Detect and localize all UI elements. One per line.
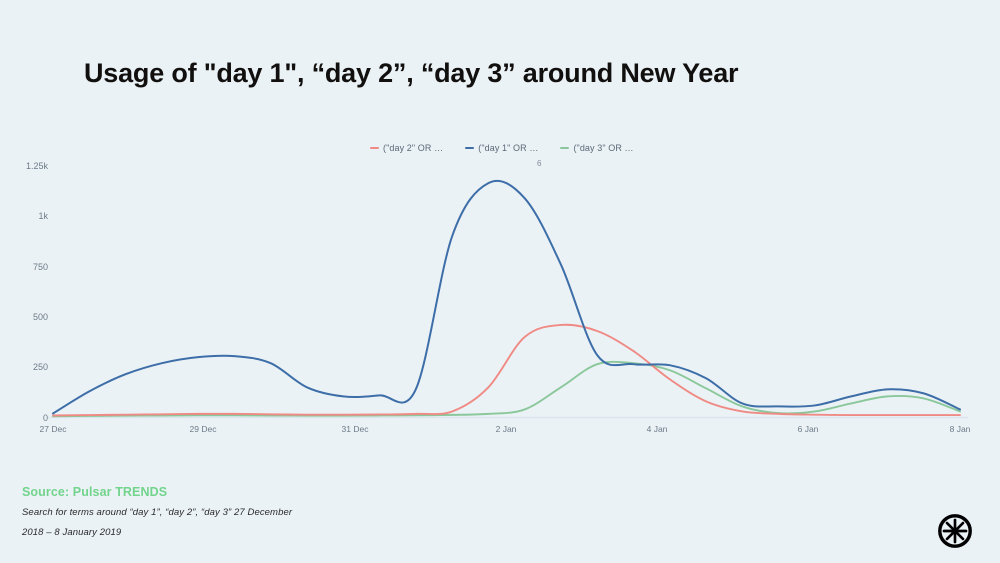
legend-swatch-day1 xyxy=(465,147,474,149)
legend-swatch-day2 xyxy=(370,147,379,149)
y-axis-tick-label: 1.25k xyxy=(4,161,48,171)
source-label: Source: Pulsar TRENDS xyxy=(22,485,167,499)
y-axis-tick-label: 1k xyxy=(4,211,48,221)
legend-label-day3: ("day 3" OR … xyxy=(573,143,633,153)
chart-legend: ("day 2" OR … ("day 1" OR … ("day 3" OR … xyxy=(370,143,634,153)
legend-swatch-day3 xyxy=(560,147,569,149)
series-line-day2 xyxy=(53,325,960,416)
x-axis-tick-label: 8 Jan xyxy=(950,424,971,434)
x-axis-tick-label: 27 Dec xyxy=(40,424,67,434)
legend-label-day2: ("day 2" OR … xyxy=(383,143,443,153)
y-axis-tick-label: 750 xyxy=(4,262,48,272)
x-axis-tick-label: 4 Jan xyxy=(647,424,668,434)
legend-overflow-indicator[interactable]: 6 xyxy=(537,159,541,168)
legend-item-day2[interactable]: ("day 2" OR … xyxy=(370,143,443,153)
y-axis-tick-label: 250 xyxy=(4,362,48,372)
legend-label-day1: ("day 1" OR … xyxy=(478,143,538,153)
y-axis-tick-label: 0 xyxy=(4,413,48,423)
caption-line-2: 2018 – 8 January 2019 xyxy=(22,527,121,538)
pulsar-asterisk-logo-icon xyxy=(936,512,974,550)
x-axis-tick-label: 6 Jan xyxy=(798,424,819,434)
slide-canvas: Usage of "day 1", “day 2”, “day 3” aroun… xyxy=(0,0,1000,563)
y-axis: 02505007501k1.25k xyxy=(0,0,48,563)
series-line-day3 xyxy=(53,362,960,417)
y-axis-tick-label: 500 xyxy=(4,312,48,322)
series-line-day1 xyxy=(53,181,960,414)
caption-line-1: Search for terms around “day 1”, “day 2”… xyxy=(22,507,292,518)
legend-item-day3[interactable]: ("day 3" OR … xyxy=(560,143,633,153)
x-axis-tick-label: 29 Dec xyxy=(190,424,217,434)
page-title: Usage of "day 1", “day 2”, “day 3” aroun… xyxy=(84,58,738,89)
legend-item-day1[interactable]: ("day 1" OR … xyxy=(465,143,538,153)
x-axis: 27 Dec29 Dec31 Dec2 Jan4 Jan6 Jan8 Jan xyxy=(0,424,1000,440)
x-axis-tick-label: 31 Dec xyxy=(342,424,369,434)
x-axis-tick-label: 2 Jan xyxy=(496,424,517,434)
